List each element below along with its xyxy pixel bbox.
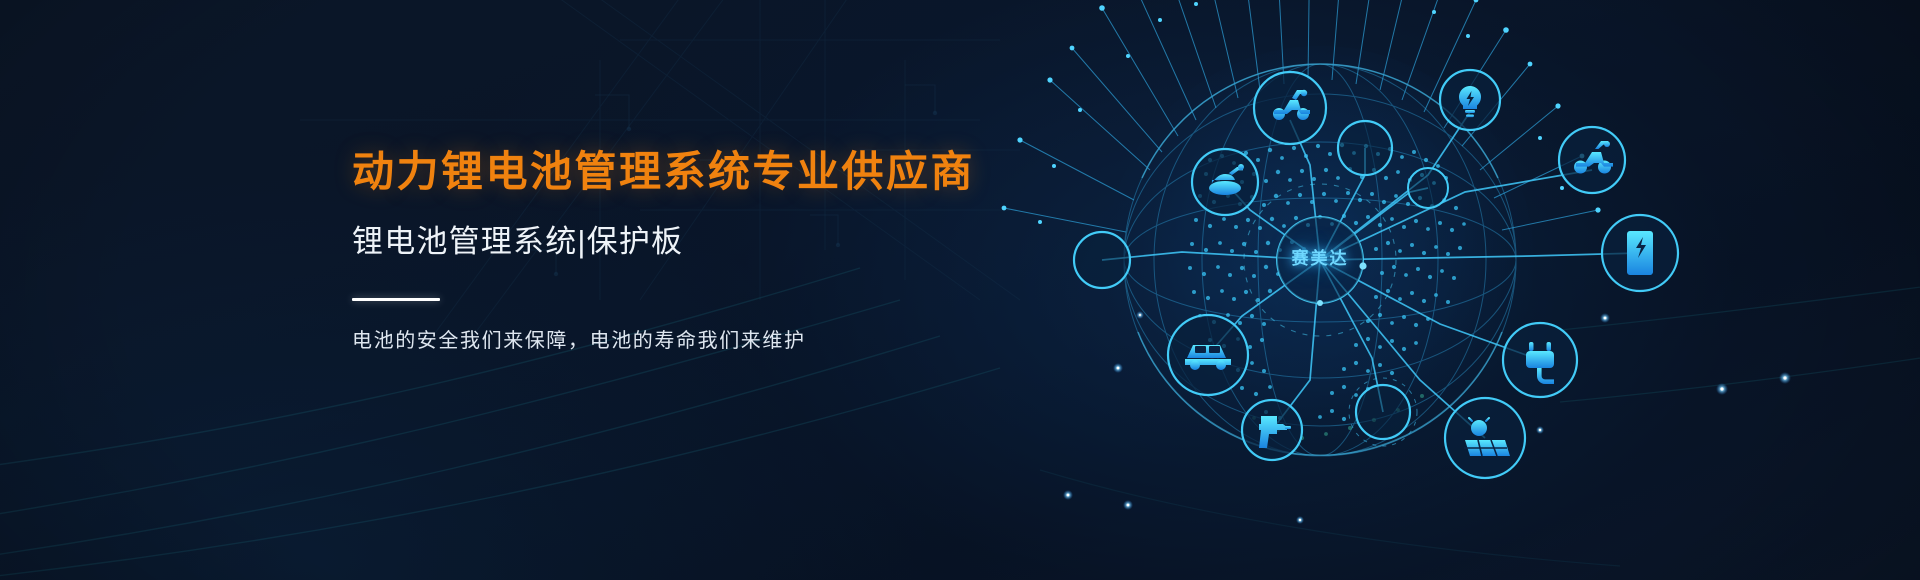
hero-copy-block: 动力锂电池管理系统专业供应商 锂电池管理系统|保护板 电池的安全我们来保障，电池… <box>352 148 1112 355</box>
node-powerbank <box>1602 215 1678 291</box>
tagline-text: 电池的安全我们来保障，电池的寿命我们来维护 <box>352 327 1112 355</box>
node-drill <box>1242 400 1302 460</box>
node-car <box>1168 315 1248 395</box>
hero-banner: 赛美达 动力锂电池管理系统专业供应商 锂电池管理系统|保护板 电池的安全我们来保… <box>0 0 1920 580</box>
node-empty-mid <box>1408 168 1448 208</box>
node-empty-top <box>1338 121 1392 175</box>
node-motorbike <box>1559 127 1625 193</box>
title-divider <box>352 298 440 301</box>
node-bulb <box>1440 70 1500 130</box>
node-solar <box>1445 398 1525 478</box>
node-plug <box>1503 323 1577 397</box>
page-subtitle: 锂电池管理系统|保护板 <box>352 223 1112 260</box>
page-title: 动力锂电池管理系统专业供应商 <box>352 148 1112 197</box>
node-scooter-top <box>1254 72 1326 144</box>
node-ebike-left <box>1192 149 1258 215</box>
